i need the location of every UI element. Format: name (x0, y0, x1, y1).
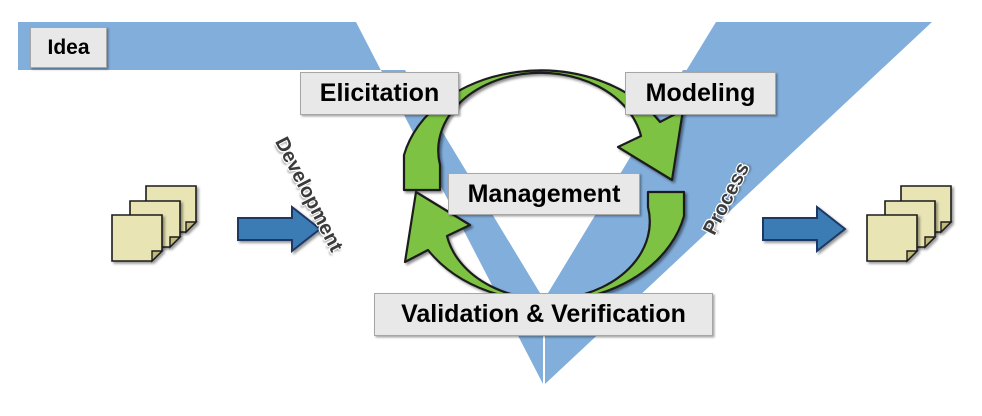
label-box-idea: Idea (30, 27, 107, 68)
document-sheet-front (867, 215, 917, 261)
label-box-modeling: Modeling (625, 72, 776, 115)
label-box-validation-and-verification: Validation & Verification (374, 293, 713, 336)
document-sheet-front (112, 215, 162, 261)
label-box-management: Management (448, 173, 640, 215)
label-box-elicitation: Elicitation (300, 72, 459, 115)
v-model-diagram: Idea Elicitation Modeling Management Val… (0, 0, 982, 416)
output-document-stack (867, 186, 951, 261)
output-arrow (763, 207, 845, 251)
input-document-stack (112, 186, 196, 261)
